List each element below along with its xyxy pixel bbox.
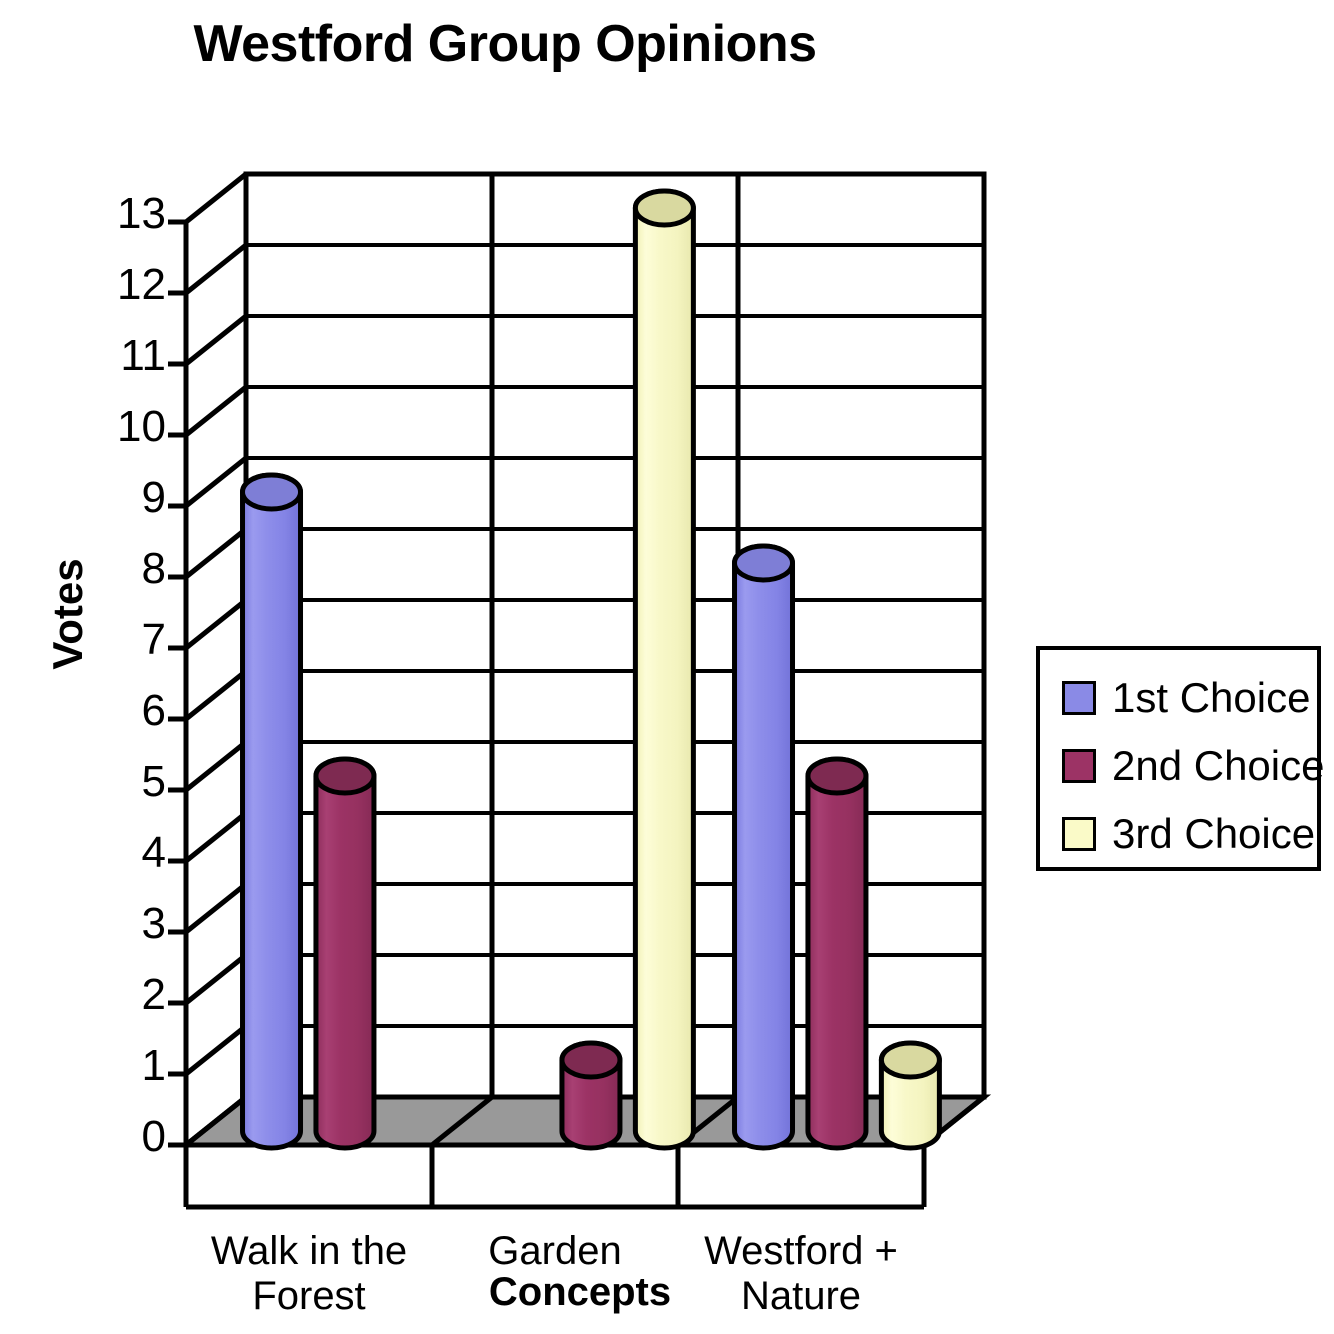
x-category-0-line2: Forest <box>159 1274 459 1319</box>
y-tick-10: 10 <box>96 405 166 449</box>
bar-1-2 <box>635 191 693 1148</box>
x-category-2-line1: Westford + <box>651 1229 951 1274</box>
bar-0-0 <box>243 475 301 1148</box>
y-tick-3: 3 <box>96 902 166 946</box>
chart-container: Westford Group Opinions Votes Concepts <box>0 0 1334 1334</box>
y-tick-12: 12 <box>96 263 166 307</box>
legend-item-1st-choice[interactable]: 1st Choice <box>1062 664 1317 732</box>
y-tick-5: 5 <box>96 760 166 804</box>
y-tick-4: 4 <box>96 831 166 875</box>
bar-2-1 <box>808 759 866 1148</box>
y-tick-13: 13 <box>96 192 166 236</box>
y-tick-11: 11 <box>96 334 166 378</box>
y-tick-2: 2 <box>96 973 166 1017</box>
legend-swatch-2nd-choice <box>1062 749 1096 783</box>
legend-label-3rd-choice: 3rd Choice <box>1112 810 1315 858</box>
bar-2-2 <box>881 1043 939 1148</box>
y-tick-9: 9 <box>96 476 166 520</box>
legend-swatch-1st-choice <box>1062 681 1096 715</box>
bar-2-0 <box>735 546 793 1148</box>
y-tick-7: 7 <box>96 618 166 662</box>
y-tick-6: 6 <box>96 689 166 733</box>
legend-label-1st-choice: 1st Choice <box>1112 674 1310 722</box>
x-category-2-line2: Nature <box>651 1274 951 1319</box>
legend: 1st Choice 2nd Choice 3rd Choice <box>1036 646 1321 871</box>
legend-label-2nd-choice: 2nd Choice <box>1112 742 1324 790</box>
bar-0-1 <box>316 759 374 1148</box>
y-tick-1: 1 <box>96 1044 166 1088</box>
bar-1-1 <box>562 1043 620 1148</box>
x-category-2: Westford +Nature <box>651 1229 951 1319</box>
legend-swatch-3rd-choice <box>1062 817 1096 851</box>
legend-item-2nd-choice[interactable]: 2nd Choice <box>1062 732 1317 800</box>
legend-item-3rd-choice[interactable]: 3rd Choice <box>1062 800 1317 868</box>
y-tick-0: 0 <box>96 1115 166 1159</box>
y-tick-8: 8 <box>96 547 166 591</box>
